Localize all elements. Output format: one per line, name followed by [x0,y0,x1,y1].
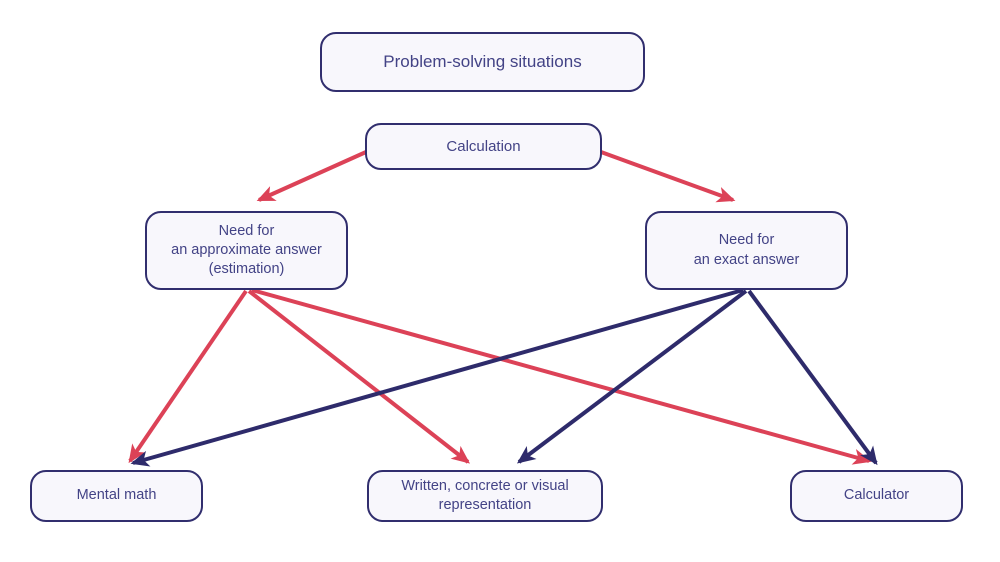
node-mental-math[interactable]: Mental math [30,470,203,522]
node-calculator[interactable]: Calculator [790,470,963,522]
edge-calc-to-approx [259,152,366,200]
node-problem-solving-situations[interactable]: Problem-solving situations [320,32,645,92]
node-label: Mental math [67,486,167,505]
node-label: Need for an approximate answer (estimati… [161,222,332,279]
node-label: Written, concrete or visual representati… [391,477,578,515]
node-label: Calculator [834,486,919,505]
edge-exact-to-written [519,291,746,462]
node-label: Problem-solving situations [373,51,591,73]
edge-approx-to-calculator [252,290,869,461]
node-need-for-approximate-answer[interactable]: Need for an approximate answer (estimati… [145,211,348,290]
node-label: Calculation [436,137,530,157]
node-written-concrete-visual-representation[interactable]: Written, concrete or visual representati… [367,470,603,522]
node-label: Need for an exact answer [684,231,810,269]
edge-calc-to-exact [601,152,733,200]
edge-exact-to-calculator [749,291,876,463]
node-calculation[interactable]: Calculation [365,123,602,170]
node-need-for-exact-answer[interactable]: Need for an exact answer [645,211,848,290]
diagram-canvas: Problem-solving situations Calculation N… [0,0,1000,562]
